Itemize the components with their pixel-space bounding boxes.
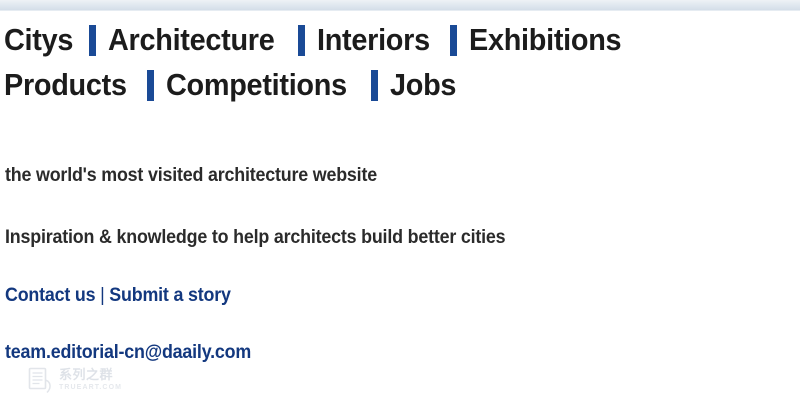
watermark-english: TRUEART.COM — [59, 384, 122, 391]
top-accent-band — [0, 0, 800, 11]
nav-separator-bar-icon — [147, 70, 154, 101]
contact-links-row: Contact us|Submit a story — [5, 286, 231, 305]
watermark-text: 系列之群 TRUEART.COM — [59, 369, 122, 391]
editorial-email-link[interactable]: team.editorial-cn@daaily.com — [5, 343, 251, 362]
nav-item-jobs[interactable]: Jobs — [390, 69, 456, 100]
nav-item-interiors[interactable]: Interiors — [317, 24, 430, 55]
nav-item-citys[interactable]: Citys — [4, 24, 73, 55]
main-navigation: Citys Architecture Interiors Exhibitions… — [4, 17, 796, 107]
watermark-chinese: 系列之群 — [59, 369, 122, 382]
document-icon — [28, 367, 54, 394]
tagline-secondary: Inspiration & knowledge to help architec… — [5, 228, 505, 247]
watermark: 系列之群 TRUEART.COM — [28, 362, 148, 398]
nav-separator-bar-icon — [450, 25, 457, 56]
nav-item-exhibitions[interactable]: Exhibitions — [469, 24, 621, 55]
nav-item-products[interactable]: Products — [4, 69, 127, 100]
tagline-primary: the world's most visited architecture we… — [5, 166, 377, 185]
link-pipe-separator: | — [100, 285, 104, 306]
nav-separator-bar-icon — [298, 25, 305, 56]
contact-us-link[interactable]: Contact us — [5, 285, 95, 306]
submit-a-story-link[interactable]: Submit a story — [109, 285, 230, 306]
nav-item-architecture[interactable]: Architecture — [108, 24, 274, 55]
page-root: Citys Architecture Interiors Exhibitions… — [0, 0, 800, 405]
nav-separator-bar-icon — [89, 25, 96, 56]
nav-separator-bar-icon — [371, 70, 378, 101]
nav-row-1: Citys Architecture Interiors Exhibitions — [4, 17, 796, 62]
nav-row-2: Products Competitions Jobs — [4, 62, 796, 107]
nav-item-competitions[interactable]: Competitions — [166, 69, 347, 100]
